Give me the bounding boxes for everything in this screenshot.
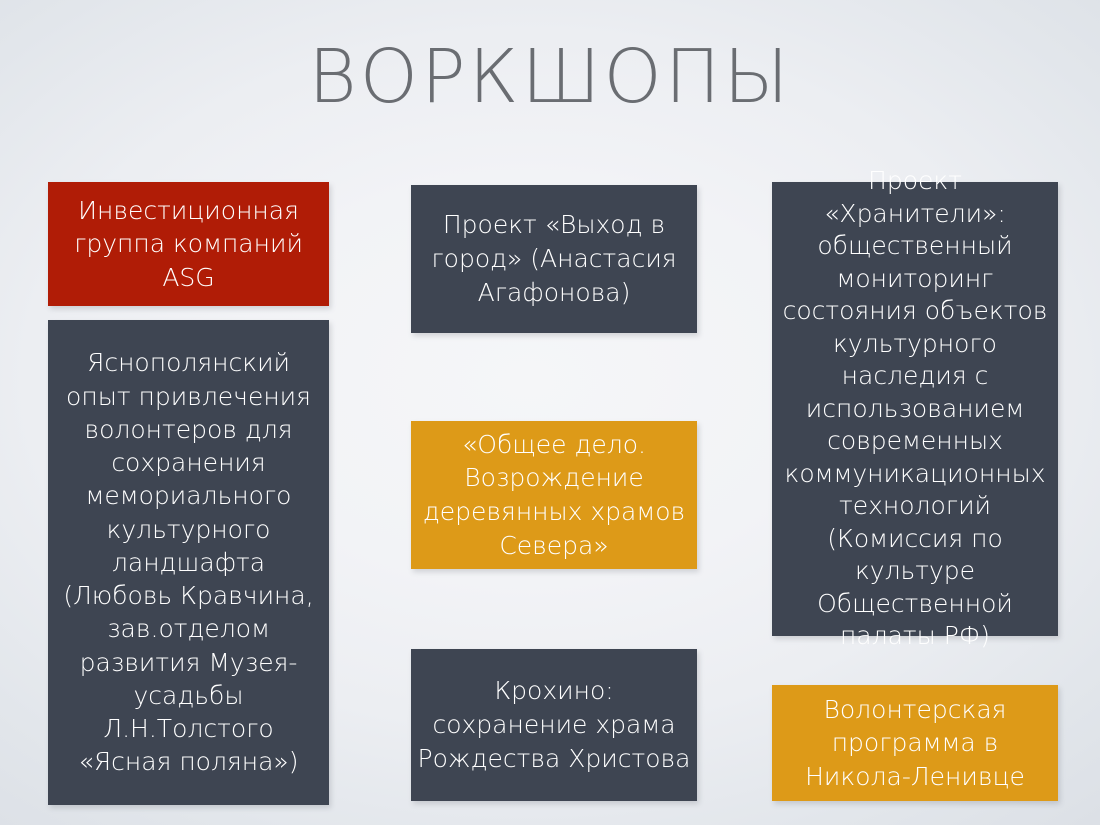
workshop-card-vyhod-v-gorod[interactable]: Проект «Выход в город» (Анастасия Агафон… [411,185,697,333]
workshop-card-label: Проект «Выход в город» (Анастасия Агафон… [411,208,697,309]
workshop-card-label: Яснополянский опыт привлечения волонтеро… [48,346,329,778]
workshop-card-label: Волонтерская программа в Никола-Ленивце [772,693,1058,793]
workshop-card-label: Проект «Хранители»: общественный монитор… [772,165,1058,653]
workshop-card-obshee-delo[interactable]: «Общее дело. Возрождение деревянных храм… [411,421,697,569]
workshop-card-krohino[interactable]: Крохино: сохранение храма Рождества Хрис… [411,649,697,801]
workshop-card-nikola-lenivets[interactable]: Волонтерская программа в Никола-Ленивце [772,685,1058,801]
workshop-card-label: Инвестиционная группа компаний ASG [48,194,329,294]
presentation-slide: ВОРКШОПЫ Инвестиционная группа компаний … [0,0,1100,825]
workshop-card-hraniteli[interactable]: Проект «Хранители»: общественный монитор… [772,182,1058,636]
workshop-card-yasnaya-polyana[interactable]: Яснополянский опыт привлечения волонтеро… [48,320,329,805]
page-title: ВОРКШОПЫ [0,40,1100,114]
workshop-card-label: «Общее дело. Возрождение деревянных храм… [411,428,697,563]
workshop-card-label: Крохино: сохранение храма Рождества Хрис… [411,674,697,775]
workshop-card-asg[interactable]: Инвестиционная группа компаний ASG [48,182,329,306]
